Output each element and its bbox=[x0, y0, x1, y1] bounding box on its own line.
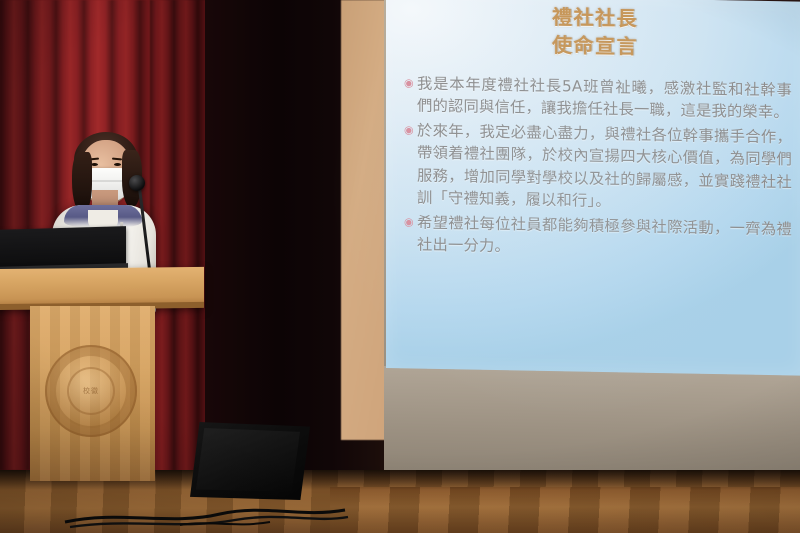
bullet-point-icon: ◉ bbox=[404, 217, 417, 228]
slide-bullet-list: ◉ 我是本年度禮社社長5A班曾祉曦，感激社監和社幹事們的認同與信任，讓我擔任社長… bbox=[404, 72, 792, 265]
projected-slide: 禮社社長 使命宣言 ◉ 我是本年度禮社社長5A班曾祉曦，感激社監和社幹事們的認同… bbox=[386, 0, 800, 376]
slide-bullet-text: 於來年，我定必盡心盡力，與禮社各位幹事攜手合作，帶領着禮社團隊，於校內宣揚四大核… bbox=[417, 120, 792, 217]
slide-bullet-text: 希望禮社每位社員都能夠積極參與社際活動，一齊為禮社出一分力。 bbox=[417, 211, 792, 263]
slide-title: 禮社社長 使命宣言 bbox=[386, 0, 800, 64]
stage-monitor-speaker-face bbox=[196, 428, 300, 492]
speaker-eye-right bbox=[114, 163, 121, 166]
school-crest-label: 校徽 bbox=[45, 345, 137, 437]
school-crest-icon: 校徽 bbox=[45, 345, 137, 437]
floor-cables bbox=[60, 492, 350, 530]
slide-bullet-item: ◉ 希望禮社每位社員都能夠積極參與社際活動，一齊為禮社出一分力。 bbox=[404, 211, 792, 263]
speaker-eye-left bbox=[91, 163, 98, 166]
bullet-point-icon: ◉ bbox=[404, 125, 417, 136]
slide-bullet-text: 我是本年度禮社社長5A班曾祉曦，感激社監和社幹事們的認同與信任，讓我擔任社長一職… bbox=[417, 73, 792, 125]
slide-bullet-item: ◉ 於來年，我定必盡心盡力，與禮社各位幹事攜手合作，帶領着禮社團隊，於校內宣揚四… bbox=[404, 119, 792, 216]
slide-bullet-item: ◉ 我是本年度禮社社長5A班曾祉曦，感激社監和社幹事們的認同與信任，讓我擔任社長… bbox=[404, 72, 792, 124]
stage-floor-front bbox=[330, 487, 800, 533]
bullet-point-icon: ◉ bbox=[404, 78, 417, 89]
microphone-icon bbox=[129, 175, 145, 191]
photo-scene: 禮社社長 使命宣言 ◉ 我是本年度禮社社長5A班曾祉曦，感激社監和社幹事們的認同… bbox=[0, 0, 800, 533]
